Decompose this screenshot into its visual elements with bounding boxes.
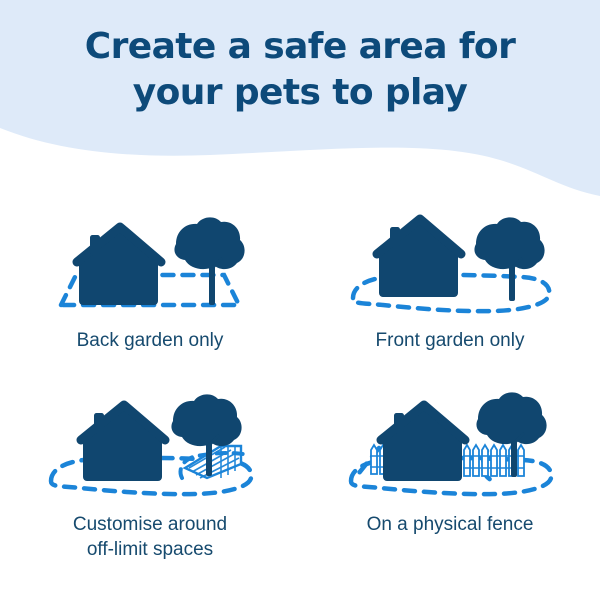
hatched-flower-bed	[185, 446, 241, 478]
card-label-customise-off-limit: Customise around off-limit spaces	[73, 512, 227, 562]
house-tree-front-boundary-icon	[335, 204, 565, 322]
house-tree-exclusion-zone-icon	[35, 388, 265, 506]
chimney-shape	[394, 413, 404, 433]
house-shape	[377, 219, 461, 297]
house-tree-back-boundary-icon	[35, 204, 265, 322]
page-title: Create a safe area for your pets to play	[0, 24, 600, 116]
card-customise-off-limit[interactable]: Customise around off-limit spaces	[0, 382, 300, 568]
card-label-back-garden-only: Back garden only	[77, 328, 224, 353]
page-title-line-2: your pets to play	[0, 70, 600, 116]
chimney-shape	[94, 413, 104, 433]
card-front-garden-only[interactable]: Front garden only	[300, 196, 600, 382]
card-physical-fence[interactable]: On a physical fence	[300, 382, 600, 568]
options-grid: Back garden only	[0, 196, 600, 600]
card-label-physical-fence: On a physical fence	[367, 512, 534, 537]
chimney-shape	[390, 227, 400, 247]
house-tree-picket-fence-icon	[335, 388, 565, 506]
house-shape	[81, 405, 165, 481]
page-title-line-1: Create a safe area for	[0, 24, 600, 70]
infographic-page: Create a safe area for your pets to play	[0, 0, 600, 600]
tree-shape	[474, 217, 544, 301]
house-shape	[77, 227, 161, 305]
card-label-front-garden-only: Front garden only	[376, 328, 525, 353]
house-shape	[381, 405, 465, 481]
card-back-garden-only[interactable]: Back garden only	[0, 196, 300, 382]
chimney-shape	[90, 235, 100, 255]
